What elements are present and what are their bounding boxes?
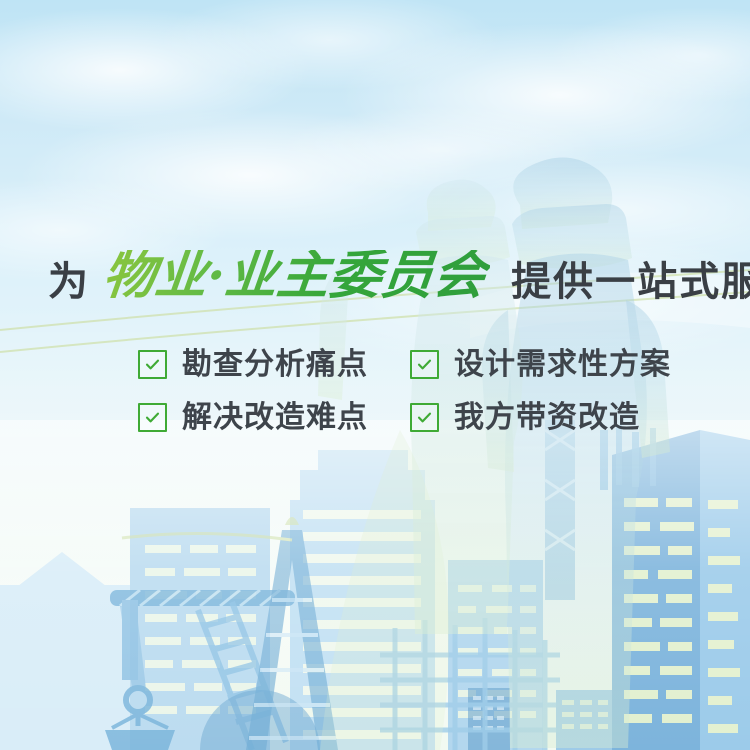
checkbox-checked-icon: [410, 403, 439, 432]
checkbox-checked-icon: [138, 350, 167, 379]
building-center-skyscraper: [290, 450, 435, 750]
building-small-detail: [468, 688, 510, 750]
feature-item-4: 我方带资改造: [410, 391, 682, 444]
buildings-mid-right: [448, 560, 614, 750]
buildings-far: [0, 552, 137, 750]
feature-label: 我方带资改造: [454, 403, 640, 433]
worker-large: [482, 157, 670, 748]
construction-crane: [105, 590, 295, 750]
promo-banner: 为 物业·业主委员会 提供一站式服务 勘查分析痛点 设计需求性方案: [0, 0, 750, 750]
cloud-shapes: [0, 0, 750, 370]
checkbox-checked-icon: [410, 350, 439, 379]
scaffold-structure: [380, 618, 560, 750]
headline-prefix: 为: [48, 262, 89, 302]
ladder: [198, 602, 286, 750]
building-left-tower: [130, 508, 270, 750]
feature-item-1: 勘查分析痛点: [138, 338, 410, 391]
headline-highlight: 物业·业主委员会: [96, 250, 492, 302]
feature-item-3: 解决改造难点: [138, 391, 410, 444]
checkbox-checked-icon: [138, 403, 167, 432]
a-frame-tower: [122, 517, 338, 750]
headline-suffix: 提供一站式服务: [511, 262, 750, 302]
feature-label: 勘查分析痛点: [182, 350, 368, 380]
feature-list: 勘查分析痛点 设计需求性方案 解决改造难点: [138, 338, 682, 444]
feature-item-2: 设计需求性方案: [410, 338, 682, 391]
dome-shape: [200, 690, 320, 750]
feature-label: 解决改造难点: [182, 403, 368, 433]
feature-label: 设计需求性方案: [454, 350, 671, 380]
headline: 为 物业·业主委员会 提供一站式服务: [48, 250, 750, 302]
buildings-right-dark: [600, 425, 750, 750]
